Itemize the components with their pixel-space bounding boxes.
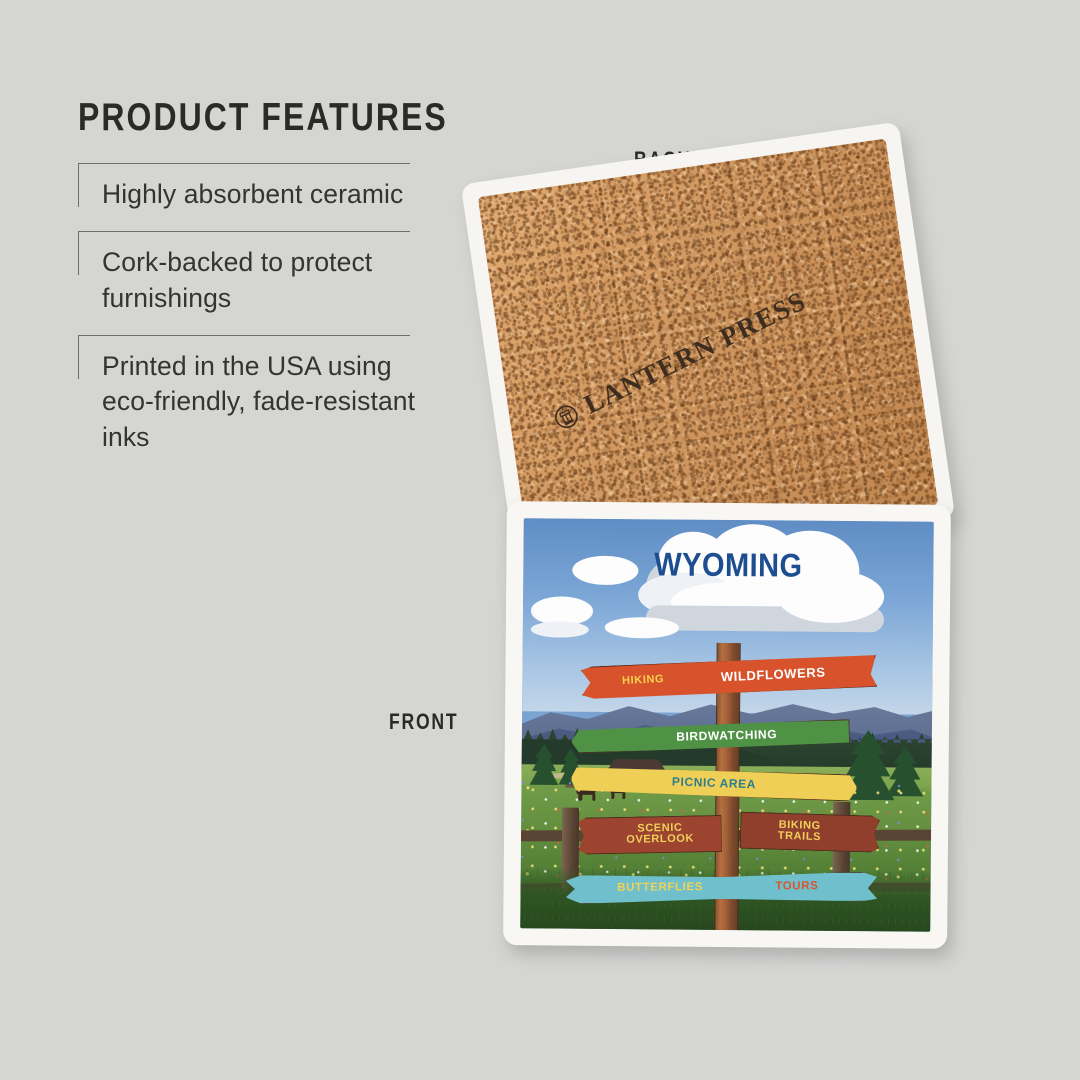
sign-label-tours: TOURS <box>754 880 839 892</box>
label-front: FRONT <box>389 709 458 735</box>
sign-scenic-overlook[interactable]: SCENIC OVERLOOK <box>578 815 722 855</box>
lantern-icon <box>549 399 584 434</box>
artwork-title: WYOMING <box>548 544 909 585</box>
cloud <box>531 621 589 638</box>
sign-label-wildflowers: WILDFLOWERS <box>688 664 860 685</box>
feature-item-absorbent: Highly absorbent ceramic <box>78 163 428 231</box>
sign-label-hiking: HIKING <box>599 673 688 688</box>
sign-label-butterflies: BUTTERFLIES <box>604 881 717 894</box>
feature-item-cork-backed: Cork-backed to protect furnishings <box>78 231 428 335</box>
brand-name: LANTERN PRESS <box>579 285 811 420</box>
product-showcase: PRODUCT FEATURES Highly absorbent cerami… <box>0 0 1080 1080</box>
feature-text: Cork-backed to protect furnishings <box>102 247 372 313</box>
sign-label-birdwatching: BIRDWATCHING <box>605 727 849 746</box>
coaster-artwork: WYOMING <box>520 518 934 932</box>
lantern-press-logo: LANTERN PRESS <box>548 285 812 436</box>
feature-divider <box>78 335 410 336</box>
feature-tick <box>78 163 79 207</box>
sign-label-trails: TRAILS <box>741 830 858 845</box>
feature-list: Highly absorbent ceramic Cork-backed to … <box>78 163 428 474</box>
feature-tick <box>78 231 79 275</box>
sign-label-overlook: OVERLOOK <box>600 834 721 848</box>
feature-divider <box>78 231 410 232</box>
cork-surface: LANTERN PRESS <box>478 139 939 564</box>
feature-item-printed-usa: Printed in the USA using eco-friendly, f… <box>78 335 428 474</box>
sign-biking-trails[interactable]: BIKING TRAILS <box>740 812 880 853</box>
feature-text: Highly absorbent ceramic <box>102 179 403 209</box>
page-title: PRODUCT FEATURES <box>78 98 365 137</box>
product-features-panel: PRODUCT FEATURES Highly absorbent cerami… <box>78 72 428 474</box>
cloud <box>605 617 679 638</box>
feature-tick <box>78 335 79 379</box>
coaster-front: WYOMING <box>503 501 951 949</box>
feature-divider <box>78 163 410 164</box>
feature-text: Printed in the USA using eco-friendly, f… <box>102 351 415 453</box>
sign-label-picnic-area: PICNIC AREA <box>572 773 857 795</box>
